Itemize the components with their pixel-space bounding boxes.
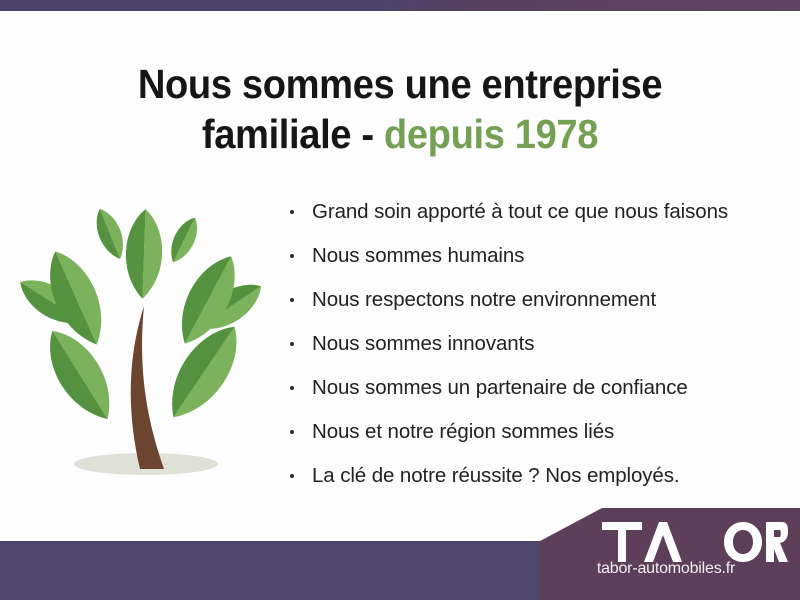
top-accent-bar xyxy=(0,0,800,11)
brand-url: tabor-automobiles.fr xyxy=(540,560,792,578)
tree-trunk xyxy=(131,306,164,469)
page-title-line-2: familiale - depuis 1978 xyxy=(28,109,772,159)
page-title-line-1: Nous sommes une entreprise xyxy=(28,59,772,109)
page-title: Nous sommes une entreprise familiale - d… xyxy=(28,59,772,159)
tabor-logo-icon xyxy=(602,522,788,562)
tree-leaf xyxy=(164,213,204,267)
tree-leaf xyxy=(124,209,163,300)
list-item: Nous et notre région sommes liés xyxy=(286,410,786,454)
tree-leaf xyxy=(35,320,126,430)
list-item: Nous respectons notre environnement xyxy=(286,278,786,322)
list-item: La clé de notre réussite ? Nos employés. xyxy=(286,454,786,498)
list-item: Nous sommes humains xyxy=(286,234,786,278)
value-list: Grand soin apporté à tout ce que nous fa… xyxy=(286,190,786,498)
brand-logo-panel: tabor-automobiles.fr xyxy=(540,508,800,600)
list-item: Nous sommes innovants xyxy=(286,322,786,366)
page-title-line-2-static: familiale - xyxy=(202,111,384,157)
list-item: Grand soin apporté à tout ce que nous fa… xyxy=(286,190,786,234)
list-item: Nous sommes un partenaire de confiance xyxy=(286,366,786,410)
family-tree-icon xyxy=(18,182,270,487)
tree-leaf xyxy=(90,205,131,263)
page-title-accent: depuis 1978 xyxy=(384,111,598,157)
